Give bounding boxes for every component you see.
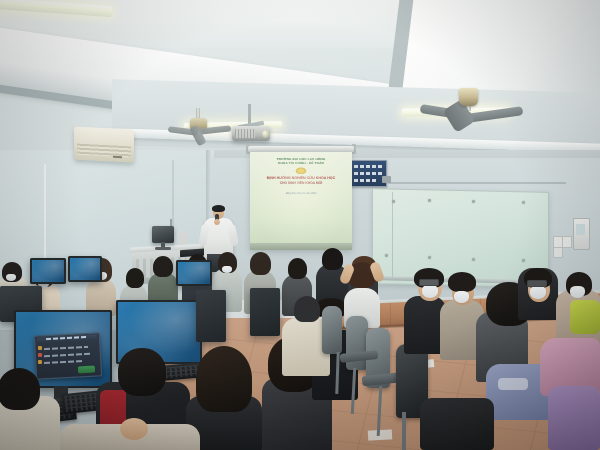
dialog-row-icon xyxy=(38,360,42,364)
whiteboard-bolt xyxy=(522,201,525,204)
desktop-monitor xyxy=(176,260,212,286)
whiteboard-bolt xyxy=(472,258,475,261)
face-mask xyxy=(222,266,232,273)
face-mask xyxy=(422,285,438,298)
desk-equipment xyxy=(178,232,187,244)
person-hair xyxy=(126,268,144,288)
desktop-monitor xyxy=(68,256,102,282)
power-outlet-icon xyxy=(553,247,563,258)
person-hair xyxy=(288,258,307,279)
person-hair xyxy=(448,272,476,292)
whiteboard-bolt xyxy=(472,200,475,203)
person-head-back xyxy=(118,348,166,396)
face-mask xyxy=(6,274,16,281)
person-hair xyxy=(250,252,271,275)
chair-leg xyxy=(402,412,406,450)
desktop-monitor-back xyxy=(250,288,280,336)
whiteboard-bolt xyxy=(392,200,395,203)
wall-conduit xyxy=(388,182,566,184)
presenter-hand xyxy=(214,219,220,225)
control-panel-screen xyxy=(576,224,585,235)
dialog-row-icon xyxy=(38,353,42,357)
sign-text-line xyxy=(348,165,382,168)
dialog-row-icon xyxy=(38,346,42,350)
whiteboard-bolt xyxy=(428,256,431,259)
power-outlet-icon xyxy=(562,236,572,248)
ceiling-fan-motor xyxy=(459,88,478,106)
person-hand xyxy=(120,418,148,440)
air-conditioner-led xyxy=(113,156,122,158)
backpack-strap xyxy=(498,378,528,390)
sign-text-line xyxy=(348,172,382,175)
coat xyxy=(548,386,600,450)
eyeglasses-icon xyxy=(527,280,547,287)
desktop-monitor xyxy=(30,258,66,284)
person-hair xyxy=(153,256,173,277)
face-mask xyxy=(454,291,469,303)
person-hair xyxy=(0,368,40,410)
person-hair xyxy=(294,296,320,322)
monitor-wallpaper xyxy=(68,256,102,282)
screen-light-glow xyxy=(250,152,352,250)
classroom-photo: TRƯỜNG ĐẠI HỌC LẠC HỒNG KHOA TÀI CHÍNH -… xyxy=(0,0,600,450)
whiteboard-bolt xyxy=(522,259,525,262)
projector-lens xyxy=(262,130,270,138)
chair[interactable] xyxy=(322,306,342,354)
whiteboard-bolt xyxy=(385,254,388,257)
person-hair-long xyxy=(196,346,252,412)
dialog-confirm-button[interactable] xyxy=(78,366,95,374)
bag-green xyxy=(570,300,600,334)
sign-text-line xyxy=(348,179,378,182)
face-mask xyxy=(570,286,585,298)
floor-paper xyxy=(368,429,392,440)
monitor-wallpaper xyxy=(30,258,66,284)
whiteboard-seam xyxy=(392,192,393,280)
whiteboard-bolt xyxy=(428,199,431,202)
desktop-monitor-back xyxy=(196,290,226,342)
camera-icon xyxy=(382,176,391,183)
desk-monitor xyxy=(152,226,174,243)
monitor-wallpaper xyxy=(176,260,212,286)
projector-vents xyxy=(235,129,255,138)
person-hair xyxy=(322,248,343,270)
eyeglasses-icon xyxy=(419,279,439,286)
presenter-hair xyxy=(212,205,225,212)
face-mask xyxy=(530,286,546,299)
desk-monitor-base xyxy=(155,247,171,250)
bag xyxy=(420,398,494,450)
